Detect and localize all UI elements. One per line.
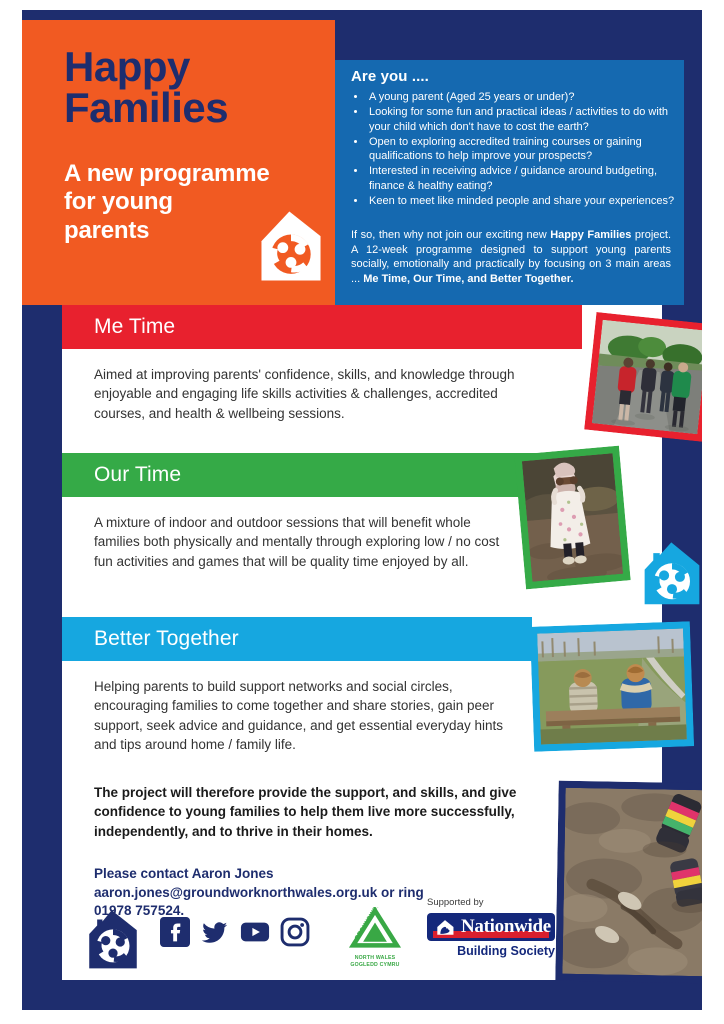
list-item: Looking for some fun and practical ideas… xyxy=(367,105,685,134)
subtitle-line-1: A new programme xyxy=(64,160,329,188)
nationwide-hand-house-icon xyxy=(433,917,457,937)
photo-walking-group xyxy=(584,312,702,442)
title-line-2: Families xyxy=(64,87,334,128)
nationwide-tagline: Building Society xyxy=(427,944,555,958)
closing-paragraph: The project will therefore provide the s… xyxy=(94,783,524,841)
twitter-icon[interactable] xyxy=(200,917,230,947)
nationwide-name: Nationwide xyxy=(461,916,551,938)
supported-by-label: Supported by xyxy=(427,897,484,908)
photo-walking-group-image xyxy=(592,320,702,435)
instagram-icon[interactable] xyxy=(280,917,310,947)
contact-name: Please contact Aaron Jones xyxy=(94,865,524,884)
list-item: Interested in receiving advice / guidanc… xyxy=(367,164,685,193)
photo-child-binoculars xyxy=(514,446,630,590)
are-you-box: Are you .... A young parent (Aged 25 yea… xyxy=(335,60,684,305)
section-title: Our Time xyxy=(94,463,181,487)
page-title: Happy Families xyxy=(64,46,334,128)
list-item: A young parent (Aged 25 years or under)? xyxy=(367,90,685,104)
are-you-paragraph: If so, then why not join our exciting ne… xyxy=(351,228,671,287)
youtube-icon[interactable] xyxy=(240,917,270,947)
para-bold-project: Happy Families xyxy=(550,229,631,241)
photo-children-bench-image xyxy=(537,628,687,744)
section-header-our-time: Our Time xyxy=(62,453,592,497)
nationwide-wordmark-bar: Nationwide xyxy=(427,913,555,941)
list-item: Keen to meet like minded people and shar… xyxy=(367,194,685,208)
section-header-me-time: Me Time xyxy=(62,305,582,349)
happy-families-house-icon xyxy=(636,538,702,610)
happy-families-house-icon xyxy=(80,905,146,971)
section-body-me-time: Aimed at improving parents' confidence, … xyxy=(94,365,539,423)
photo-muddy-boots xyxy=(555,781,702,984)
section-body-our-time: A mixture of indoor and outdoor sessions… xyxy=(94,513,514,571)
nationwide-logo: Nationwide Building Society xyxy=(427,913,555,958)
list-item: Open to exploring accredited training co… xyxy=(367,135,685,164)
section-title: Me Time xyxy=(94,315,175,339)
social-links xyxy=(160,917,310,947)
groundwork-region-cy: GOGLEDD CYMRU xyxy=(344,962,406,969)
photo-muddy-boots-image xyxy=(562,788,702,976)
are-you-heading: Are you .... xyxy=(351,68,429,85)
title-line-1: Happy xyxy=(64,46,334,87)
poster-canvas: Happy Families A new programme for young… xyxy=(22,10,702,1010)
photo-child-binoculars-image xyxy=(522,453,623,581)
para-pre: If so, then why not join our exciting ne… xyxy=(351,229,550,241)
poster-header: Happy Families A new programme for young… xyxy=(22,20,702,305)
groundwork-logo: GROUNDWORK NORTH WALES GOGLEDD CYMRU xyxy=(344,907,406,969)
section-title: Better Together xyxy=(94,627,239,651)
para-bold-areas: Me Time, Our Time, and Better Together. xyxy=(363,273,573,285)
section-header-better-together: Better Together xyxy=(62,617,532,661)
section-body-better-together: Helping parents to build support network… xyxy=(94,677,514,755)
facebook-icon[interactable] xyxy=(160,917,190,947)
are-you-bullet-list: A young parent (Aged 25 years or under)?… xyxy=(349,90,685,209)
photo-children-bench xyxy=(530,621,694,752)
groundwork-region: NORTH WALES GOGLEDD CYMRU xyxy=(344,955,406,968)
happy-families-house-icon xyxy=(250,205,332,287)
groundwork-triangle-icon: GROUNDWORK xyxy=(345,907,405,949)
